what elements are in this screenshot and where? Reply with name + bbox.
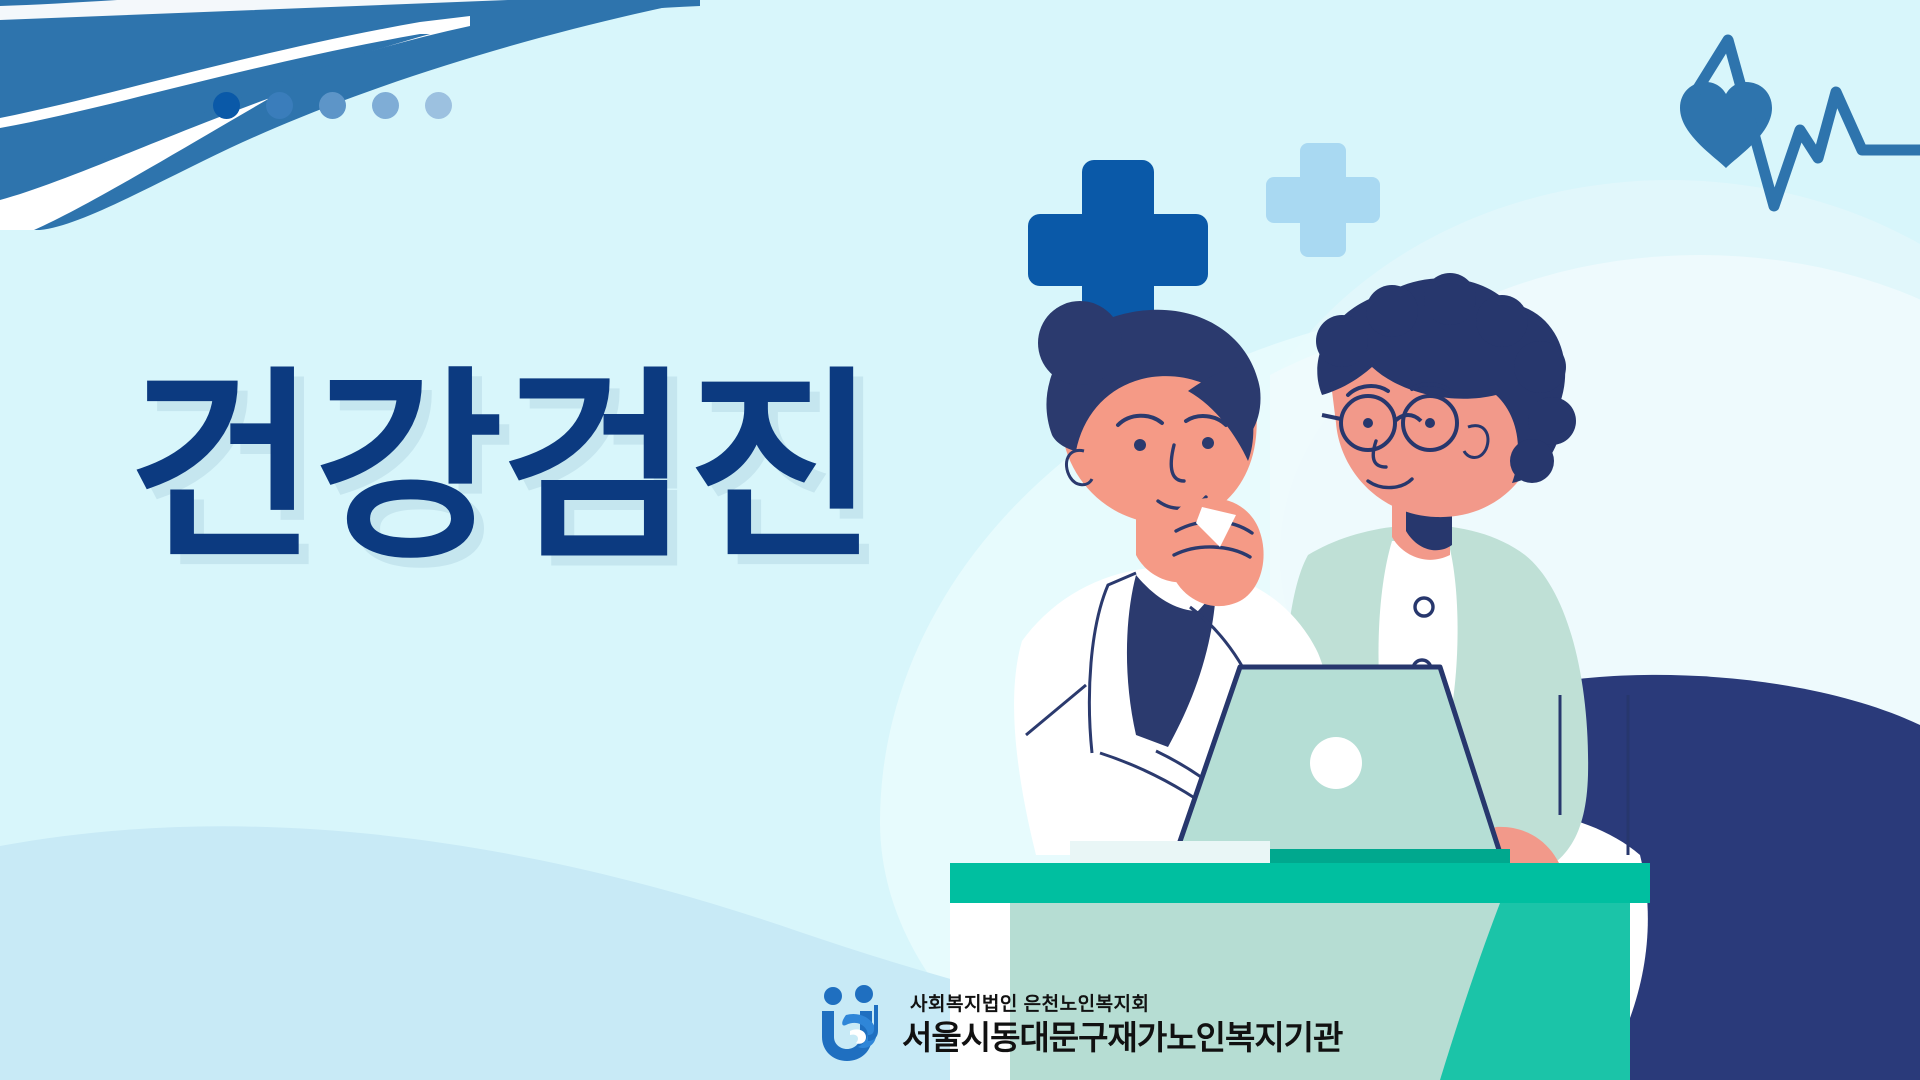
decorative-dot-row: [213, 92, 452, 119]
page-title: 건강검진: [128, 358, 874, 579]
dot-1-icon: [213, 92, 240, 119]
consultation-illustration: [940, 255, 1920, 1080]
dot-2-icon: [266, 92, 293, 119]
dot-5-icon: [425, 92, 452, 119]
eunchun-welfare-logo-mark-icon: [816, 985, 888, 1063]
slide-canvas: 건강검진 사회복지법인 은천노인복지회 서울시동대문구재가노인복지기관: [0, 0, 1920, 1080]
medical-cross-light-icon: [1266, 143, 1380, 257]
logo-subtitle: 사회복지법인 은천노인복지회: [910, 995, 1342, 1014]
dot-4-icon: [372, 92, 399, 119]
heart-pulse-icon: [1640, 30, 1920, 215]
organization-logo: 사회복지법인 은천노인복지회 서울시동대문구재가노인복지기관: [816, 985, 1342, 1063]
dot-3-icon: [319, 92, 346, 119]
logo-title: 서울시동대문구재가노인복지기관: [902, 1021, 1342, 1054]
